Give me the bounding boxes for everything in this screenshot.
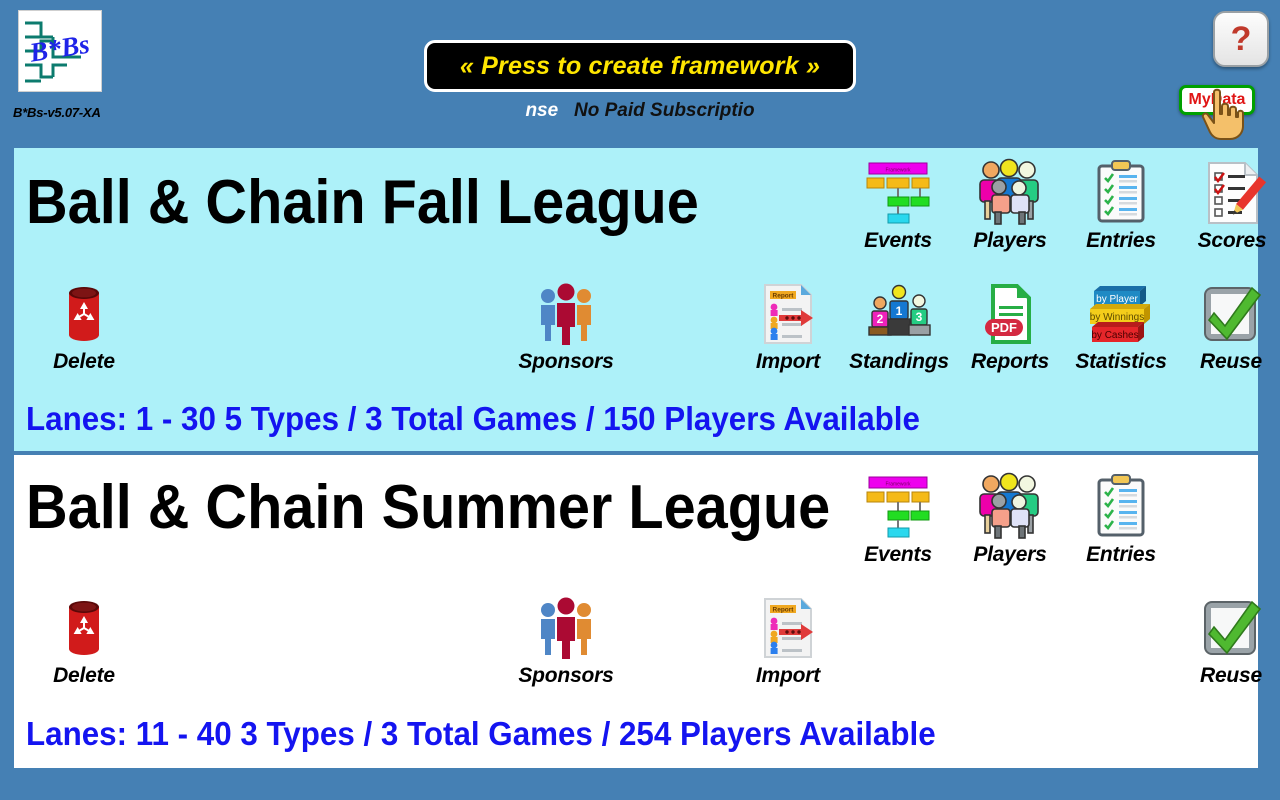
action-label: Statistics (1075, 350, 1166, 374)
league-0-action-statistics[interactable]: by Player by Winnings by Cashes Statisti… (1061, 279, 1181, 374)
action-label: Import (756, 350, 820, 374)
svg-text:Report: Report (773, 293, 795, 300)
svg-text:PDF: PDF (991, 320, 1017, 335)
league-0-action-reuse[interactable]: Reuse (1183, 279, 1279, 374)
action-label: Standings (849, 350, 949, 374)
svg-text:B*Bs: B*Bs (27, 29, 92, 68)
delete-icon (49, 593, 119, 663)
license-status-line: nse No Paid Subscriptio (0, 100, 1280, 122)
league-0-action-standings[interactable]: 2 1 3 Standings (839, 279, 959, 374)
sponsors-icon (531, 593, 601, 663)
league-title: Ball & Chain Summer League (26, 477, 830, 539)
league-panel-fall: Ball & Chain Fall League Framework Event… (10, 148, 1262, 451)
svg-text:Report: Report (773, 607, 795, 614)
app-root: B*Bs B*Bs-v5.07-XA nse No Paid Subscript… (0, 0, 1280, 800)
league-0-action-delete[interactable]: Delete (36, 279, 132, 374)
league-panel-summer: Ball & Chain Summer League Framework Eve… (10, 455, 1262, 768)
svg-text:1: 1 (896, 304, 903, 318)
action-label: Delete (53, 350, 115, 374)
action-label: Scores (1198, 229, 1267, 253)
svg-text:2: 2 (877, 312, 884, 326)
action-label: Players (973, 543, 1046, 567)
league-1-action-sponsors[interactable]: Sponsors (506, 593, 626, 688)
league-0-action-entries[interactable]: Entries (1073, 158, 1169, 253)
help-button[interactable]: ? (1213, 11, 1269, 67)
footer-strip (0, 768, 1280, 800)
bracket-logo-icon: B*Bs (19, 11, 103, 93)
subscription-text-clipped: No Paid Subscriptio (574, 100, 755, 121)
svg-text:3: 3 (916, 310, 923, 324)
scores-icon (1197, 158, 1267, 228)
app-logo: B*Bs (18, 10, 102, 92)
league-1-action-events[interactable]: Framework Events (850, 472, 946, 567)
my-data-label-data: Data (1211, 91, 1246, 109)
action-label: Events (864, 543, 932, 567)
action-label: Entries (1086, 543, 1156, 567)
action-label: Sponsors (518, 664, 613, 688)
league-summary: Lanes: 11 - 40 3 Types / 3 Total Games /… (26, 717, 936, 751)
entries-icon (1086, 158, 1156, 228)
league-title: Ball & Chain Fall League (26, 172, 699, 234)
league-0-action-scores[interactable]: Scores (1184, 158, 1280, 253)
league-1-action-delete[interactable]: Delete (36, 593, 132, 688)
reuse-icon (1196, 593, 1266, 663)
svg-text:by Winnings: by Winnings (1090, 312, 1144, 323)
reuse-icon (1196, 279, 1266, 349)
app-header: B*Bs B*Bs-v5.07-XA nse No Paid Subscript… (0, 0, 1280, 148)
action-label: Reuse (1200, 350, 1262, 374)
league-summary: Lanes: 1 - 30 5 Types / 3 Total Games / … (26, 402, 920, 436)
players-icon (975, 472, 1045, 542)
svg-text:by Cashes: by Cashes (1091, 330, 1138, 341)
svg-text:Framework: Framework (885, 482, 911, 488)
league-0-action-reports[interactable]: PDF Reports (950, 279, 1070, 374)
action-label: Events (864, 229, 932, 253)
import-icon: Report (753, 593, 823, 663)
action-label: Reuse (1200, 664, 1262, 688)
create-framework-button[interactable]: « Press to create framework » (424, 40, 856, 92)
delete-icon (49, 279, 119, 349)
events-icon: Framework (863, 158, 933, 228)
statistics-icon: by Player by Winnings by Cashes (1086, 279, 1156, 349)
standings-icon: 2 1 3 (864, 279, 934, 349)
league-0-action-import[interactable]: Report Import (728, 279, 848, 374)
action-label: Sponsors (518, 350, 613, 374)
svg-text:Framework: Framework (885, 168, 911, 174)
entries-icon (1086, 472, 1156, 542)
action-label: Import (756, 664, 820, 688)
action-label: Entries (1086, 229, 1156, 253)
import-icon: Report (753, 279, 823, 349)
league-1-action-entries[interactable]: Entries (1073, 472, 1169, 567)
league-0-action-players[interactable]: Players (962, 158, 1058, 253)
sponsors-icon (531, 279, 601, 349)
action-label: Delete (53, 664, 115, 688)
svg-text:by Player: by Player (1096, 294, 1138, 305)
action-label: Players (973, 229, 1046, 253)
action-label: Reports (971, 350, 1049, 374)
events-icon: Framework (863, 472, 933, 542)
my-data-label-my: My (1189, 91, 1211, 109)
league-1-action-import[interactable]: Report Import (728, 593, 848, 688)
my-data-button[interactable]: MyData (1179, 85, 1255, 115)
league-1-action-reuse[interactable]: Reuse (1183, 593, 1279, 688)
league-1-action-players[interactable]: Players (962, 472, 1058, 567)
league-0-action-events[interactable]: Framework Events (850, 158, 946, 253)
league-0-action-sponsors[interactable]: Sponsors (506, 279, 626, 374)
reports-icon: PDF (975, 279, 1045, 349)
players-icon (975, 158, 1045, 228)
license-text-clipped: nse (525, 100, 558, 121)
